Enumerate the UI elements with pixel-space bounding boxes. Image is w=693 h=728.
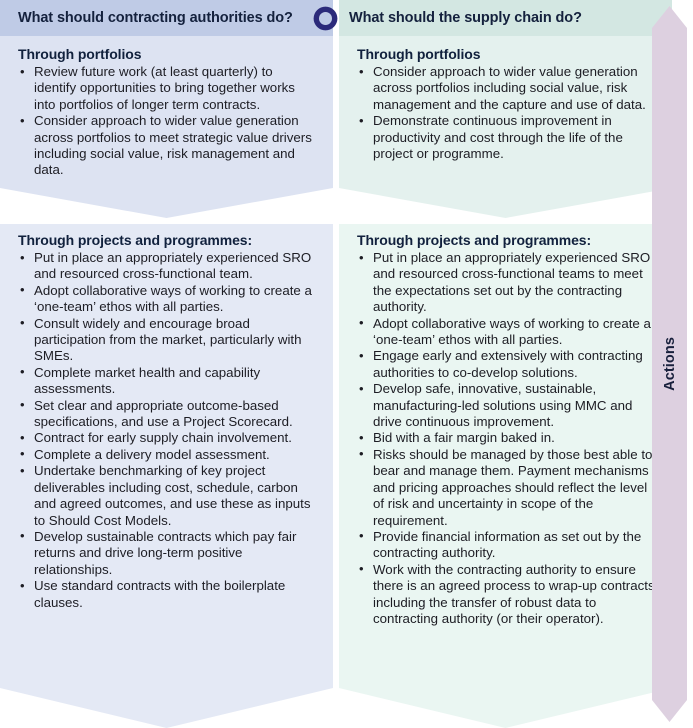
section-portfolios-left: Through portfolios Review future work (a… [0,36,333,218]
list-item: Set clear and appropriate outcome-based … [18,398,319,431]
page-title-right: What should the supply chain do? [339,10,582,26]
bullet-list: Put in place an appropriately experience… [357,250,658,627]
list-item: Risks should be managed by those best ab… [357,447,658,529]
column-supply-chain: What should the supply chain do? Through… [339,0,672,728]
actions-label-wrap: Actions [652,6,687,722]
list-item: Complete market health and capability as… [18,365,319,398]
actions-arrow: Actions [652,6,687,722]
list-item: Adopt collaborative ways of working to c… [18,283,319,316]
list-item: Put in place an appropriately experience… [18,250,319,283]
list-item: Consider approach to wider value generat… [18,113,317,179]
list-item: Develop safe, innovative, sustainable, m… [357,381,658,430]
list-item: Develop sustainable contracts which pay … [18,529,319,578]
column-header-supply-chain: What should the supply chain do? [339,0,672,36]
list-item: Consult widely and encourage broad parti… [18,316,319,365]
section-heading: Through portfolios [357,46,656,62]
list-item: Adopt collaborative ways of working to c… [357,316,658,349]
list-item: Contract for early supply chain involvem… [18,430,319,446]
section-heading: Through portfolios [18,46,317,62]
infographic-root: What should contracting authorities do? … [0,0,693,728]
bullet-list: Review future work (at least quarterly) … [18,64,317,179]
list-item: Review future work (at least quarterly) … [18,64,317,113]
list-item: Bid with a fair margin baked in. [357,430,658,446]
section-heading: Through projects and programmes: [18,232,319,248]
split-circle-icon [312,5,339,32]
section-portfolios-right: Through portfolios Consider approach to … [339,36,672,218]
list-item: Provide financial information as set out… [357,529,658,562]
section-projects-programmes-left: Through projects and programmes: Put in … [0,224,333,728]
section-projects-programmes-right: Through projects and programmes: Put in … [339,224,672,728]
column-divider [333,0,339,728]
bullet-list: Consider approach to wider value generat… [357,64,656,162]
list-item: Undertake benchmarking of key project de… [18,463,319,529]
list-item: Put in place an appropriately experience… [357,250,658,316]
list-item: Engage early and extensively with contra… [357,348,658,381]
page-title-left: What should contracting authorities do? [0,10,293,26]
list-item: Use standard contracts with the boilerpl… [18,578,319,611]
column-contracting-authorities: What should contracting authorities do? … [0,0,333,728]
bullet-list: Put in place an appropriately experience… [18,250,319,611]
list-item: Consider approach to wider value generat… [357,64,656,113]
column-header-contracting-authorities: What should contracting authorities do? [0,0,333,36]
list-item: Work with the contracting authority to e… [357,562,658,628]
actions-label: Actions [662,337,678,391]
list-item: Complete a delivery model assessment. [18,447,319,463]
section-heading: Through projects and programmes: [357,232,658,248]
list-item: Demonstrate continuous improvement in pr… [357,113,656,162]
